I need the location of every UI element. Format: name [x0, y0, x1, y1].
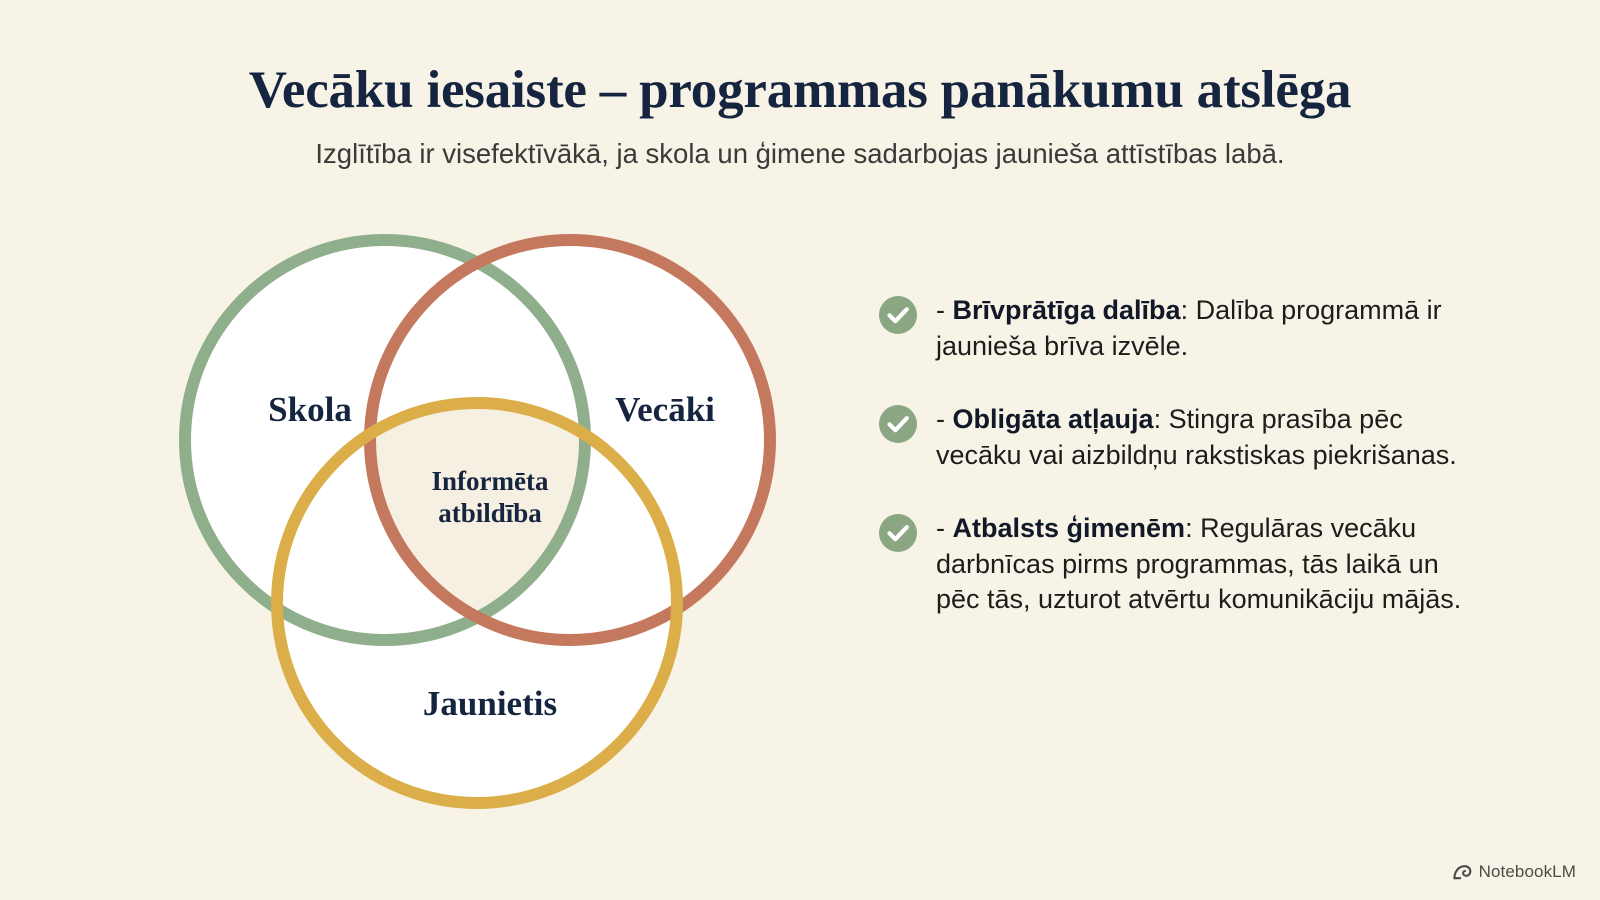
check-circle-icon — [878, 513, 918, 553]
notebooklm-spiral-icon — [1452, 864, 1472, 880]
key-points-list: - Brīvprātīga dalība: Dalība programmā i… — [878, 292, 1488, 618]
check-circle-icon — [878, 295, 918, 335]
venn-diagram: Skola Vecāki Jaunietis Informēta atbildī… — [140, 218, 840, 838]
notebooklm-label: NotebookLM — [1479, 862, 1576, 882]
list-item: - Atbalsts ģimenēm: Regulāras vecāku dar… — [878, 510, 1488, 619]
notebooklm-watermark: NotebookLM — [1452, 862, 1576, 882]
list-item-dash: - — [936, 404, 953, 434]
venn-center-line1: Informēta — [432, 466, 549, 496]
list-item-lead: Brīvprātīga dalība — [953, 295, 1181, 325]
list-item-dash: - — [936, 295, 953, 325]
list-item-text: - Brīvprātīga dalība: Dalība programmā i… — [936, 292, 1488, 365]
page-subtitle: Izglītība ir visefektīvākā, ja skola un … — [0, 137, 1600, 170]
list-item-text: - Obligāta atļauja: Stingra prasība pēc … — [936, 401, 1488, 474]
infographic-poster: Vecāku iesaiste – programmas panākumu at… — [0, 0, 1600, 900]
venn-label-school: Skola — [200, 390, 420, 430]
list-item-text: - Atbalsts ģimenēm: Regulāras vecāku dar… — [936, 510, 1488, 619]
venn-center-line2: atbildība — [434, 498, 546, 530]
check-circle-icon — [878, 404, 918, 444]
page-title: Vecāku iesaiste – programmas panākumu at… — [0, 62, 1600, 118]
list-item-dash: - — [936, 513, 953, 543]
venn-label-youth: Jaunietis — [370, 684, 610, 724]
list-item-lead: Obligāta atļauja — [953, 404, 1154, 434]
list-item-lead: Atbalsts ģimenēm — [953, 513, 1186, 543]
list-item: - Obligāta atļauja: Stingra prasība pēc … — [878, 401, 1488, 474]
list-item: - Brīvprātīga dalība: Dalība programmā i… — [878, 292, 1488, 365]
venn-center-label: Informēta atbildība — [355, 466, 625, 530]
venn-label-parents: Vecāki — [550, 390, 780, 430]
header: Vecāku iesaiste – programmas panākumu at… — [0, 62, 1600, 170]
